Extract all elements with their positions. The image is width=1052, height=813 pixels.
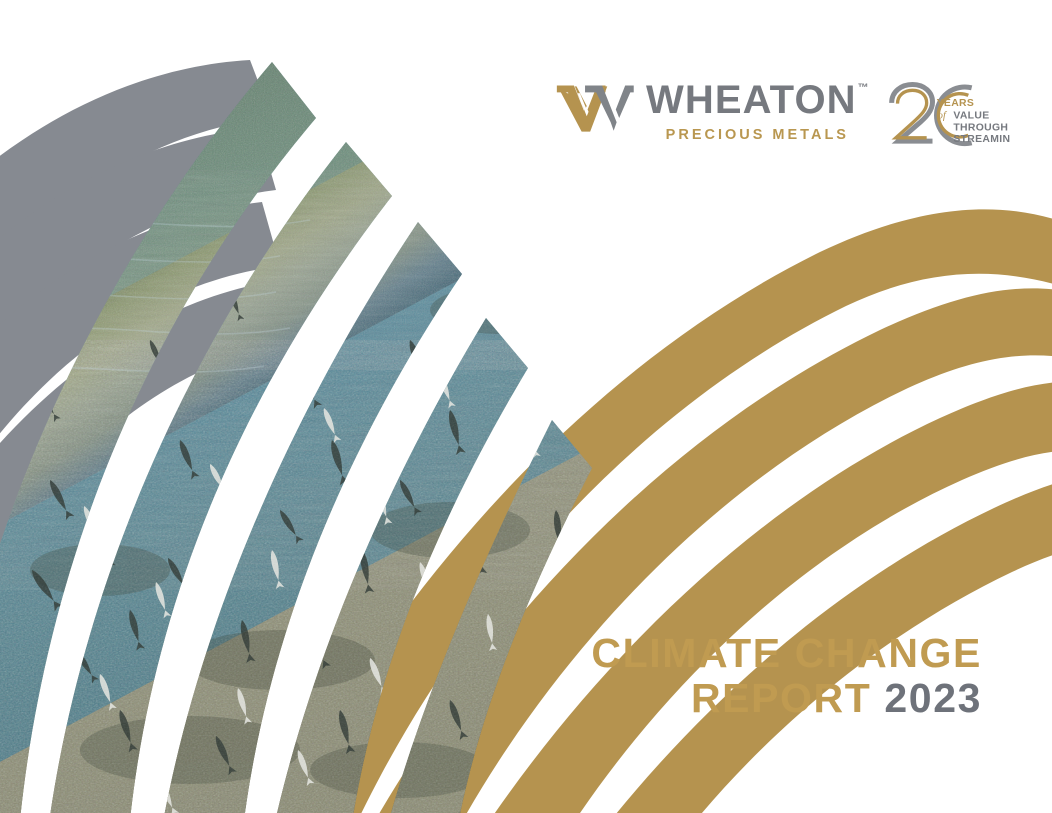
gray-band-3 bbox=[0, 202, 280, 813]
wheaton-logo: WHEATON ™ PRECIOUS METALS YEARS of VALUE… bbox=[556, 78, 996, 154]
report-title-report-word: REPORT bbox=[691, 675, 871, 721]
gold-band-3 bbox=[436, 381, 1052, 813]
report-cover-page: WHEATON ™ PRECIOUS METALS YEARS of VALUE… bbox=[0, 0, 1052, 813]
gold-ribbon-bands bbox=[232, 209, 1052, 813]
gray-band-1 bbox=[0, 60, 272, 500]
wordmark-row: WHEATON ™ bbox=[646, 80, 869, 120]
gray-band-2 bbox=[0, 128, 276, 686]
brand-tagline: PRECIOUS METALS bbox=[666, 128, 849, 143]
badge-of-text: of bbox=[937, 110, 947, 122]
gray-ribbon-bands bbox=[0, 60, 284, 813]
report-title-year: 2023 bbox=[884, 675, 982, 721]
wheaton-double-v-mark bbox=[556, 83, 638, 141]
anniversary-20-years-badge: YEARS of VALUE THROUGH STREAMING bbox=[885, 81, 1010, 153]
badge-years-text: YEARS bbox=[936, 98, 974, 109]
badge-through-text: THROUGH bbox=[953, 122, 1008, 133]
report-title-line-2: REPORT 2023 bbox=[591, 677, 982, 720]
wheaton-wordmark-group: WHEATON ™ PRECIOUS METALS bbox=[646, 78, 869, 143]
cover-title-block: CLIMATE CHANGE REPORT 2023 bbox=[591, 632, 982, 720]
badge-value-text: VALUE bbox=[953, 111, 989, 122]
logo-v-gray-right-arm bbox=[616, 86, 634, 118]
badge-streaming-text: STREAMING bbox=[953, 134, 1010, 145]
gold-band-2 bbox=[330, 288, 1052, 813]
trademark-symbol: ™ bbox=[858, 83, 869, 94]
gray-band-4 bbox=[0, 282, 284, 813]
gold-band-1 bbox=[232, 209, 1052, 813]
report-title-line-1: CLIMATE CHANGE bbox=[591, 632, 982, 675]
brand-wordmark: WHEATON bbox=[646, 80, 857, 120]
